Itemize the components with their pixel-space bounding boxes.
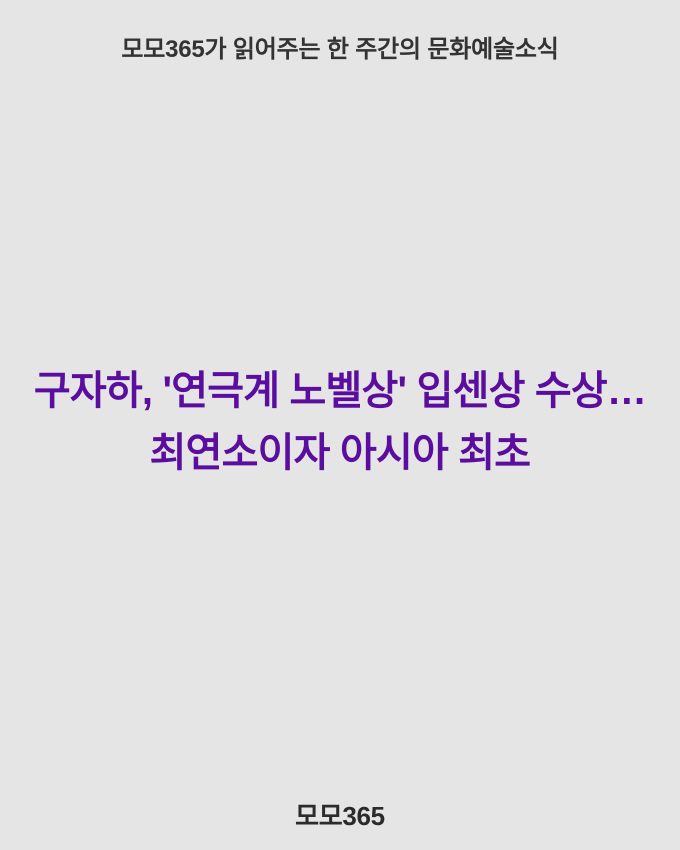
headline-block: 구자하, '연극계 노벨상' 입센상 수상… 최연소이자 아시아 최초 <box>0 360 680 484</box>
headline-line-2: 최연소이자 아시아 최초 <box>150 422 531 484</box>
brand-logo-text: 모모365 <box>295 802 385 831</box>
card-footer: 모모365 <box>0 782 680 850</box>
header-tagline: 모모365가 읽어주는 한 주간의 문화예술소식 <box>121 36 558 65</box>
card-header: 모모365가 읽어주는 한 주간의 문화예술소식 <box>0 0 680 100</box>
news-card: 모모365가 읽어주는 한 주간의 문화예술소식 구자하, '연극계 노벨상' … <box>0 0 680 850</box>
headline-line-1: 구자하, '연극계 노벨상' 입센상 수상… <box>34 360 646 422</box>
